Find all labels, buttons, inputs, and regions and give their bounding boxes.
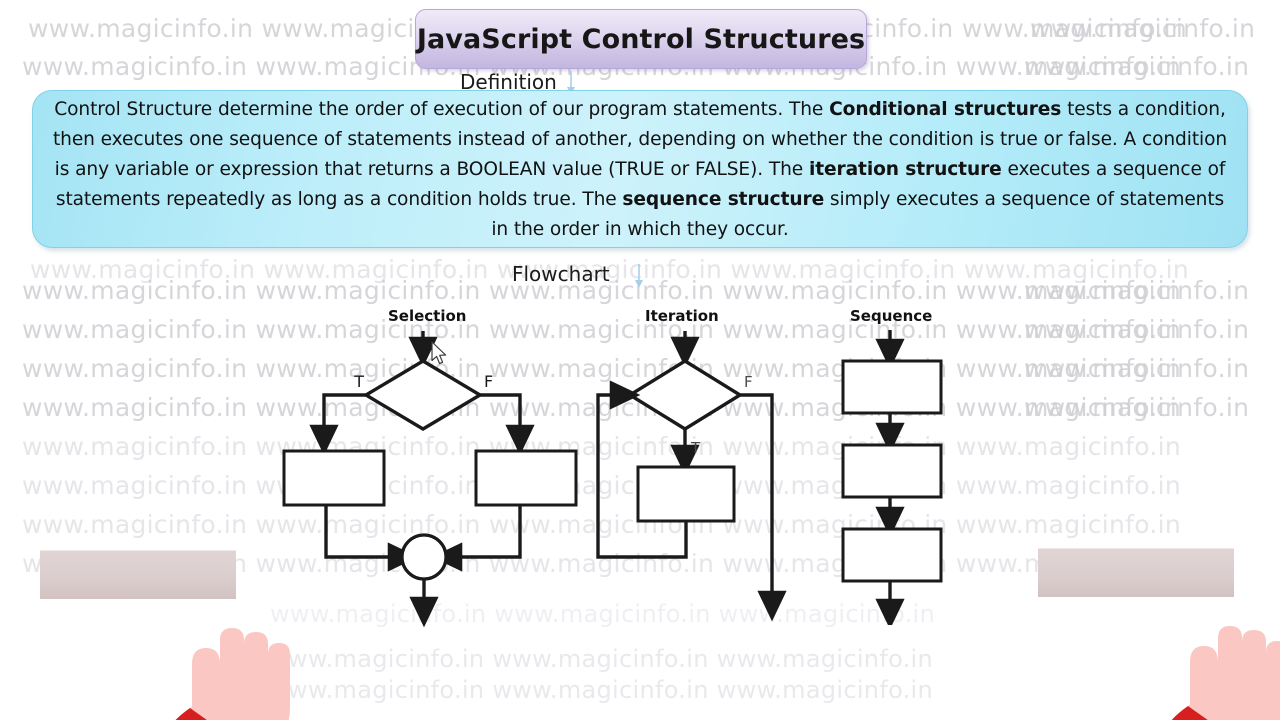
iteration-flowchart-diagram: F T bbox=[590, 325, 810, 635]
page-title: JavaScript Control Structures bbox=[417, 24, 865, 55]
watermark-text: www.magicinfo.in www.magicinfo.in www.ma… bbox=[268, 645, 933, 673]
watermark-text: www.magicinfo.in www.magicinfo.in www.ma… bbox=[268, 676, 933, 704]
watermark-text: www.magicinfo.in bbox=[1024, 52, 1249, 81]
definition-box: Control Structure determine the order of… bbox=[32, 90, 1248, 248]
mouse-pointer-icon bbox=[431, 341, 449, 367]
definition-run: Control Structure determine the order of… bbox=[54, 99, 829, 120]
flowchart-label-iteration: Iteration bbox=[645, 307, 719, 325]
sequence-flowchart-diagram bbox=[815, 325, 985, 625]
definition-emphasis: iteration structure bbox=[809, 159, 1002, 180]
slide-title-box: JavaScript Control Structures bbox=[415, 9, 867, 69]
flowchart-label-sequence: Sequence bbox=[850, 307, 932, 325]
definition-emphasis: Conditional structures bbox=[829, 99, 1061, 120]
iteration-false-label: F bbox=[744, 373, 753, 391]
flowchart-caption: Flowchart bbox=[512, 262, 610, 286]
definition-text: Control Structure determine the order of… bbox=[51, 95, 1229, 245]
definition-emphasis: sequence structure bbox=[622, 189, 824, 210]
selection-true-label: T bbox=[353, 372, 364, 391]
selection-false-label: F bbox=[484, 372, 493, 391]
flowchart-label-selection: Selection bbox=[388, 307, 466, 325]
watermark-text: www.magicinfo.in bbox=[1030, 14, 1255, 43]
iteration-true-label: T bbox=[690, 439, 701, 457]
pointing-hand-icon bbox=[148, 586, 348, 720]
slide-canvas: www.magicinfo.in www.magicinfo.in www.ma… bbox=[0, 0, 1280, 720]
pointing-hand-icon bbox=[1146, 584, 1280, 720]
down-arrow-icon bbox=[632, 263, 646, 289]
